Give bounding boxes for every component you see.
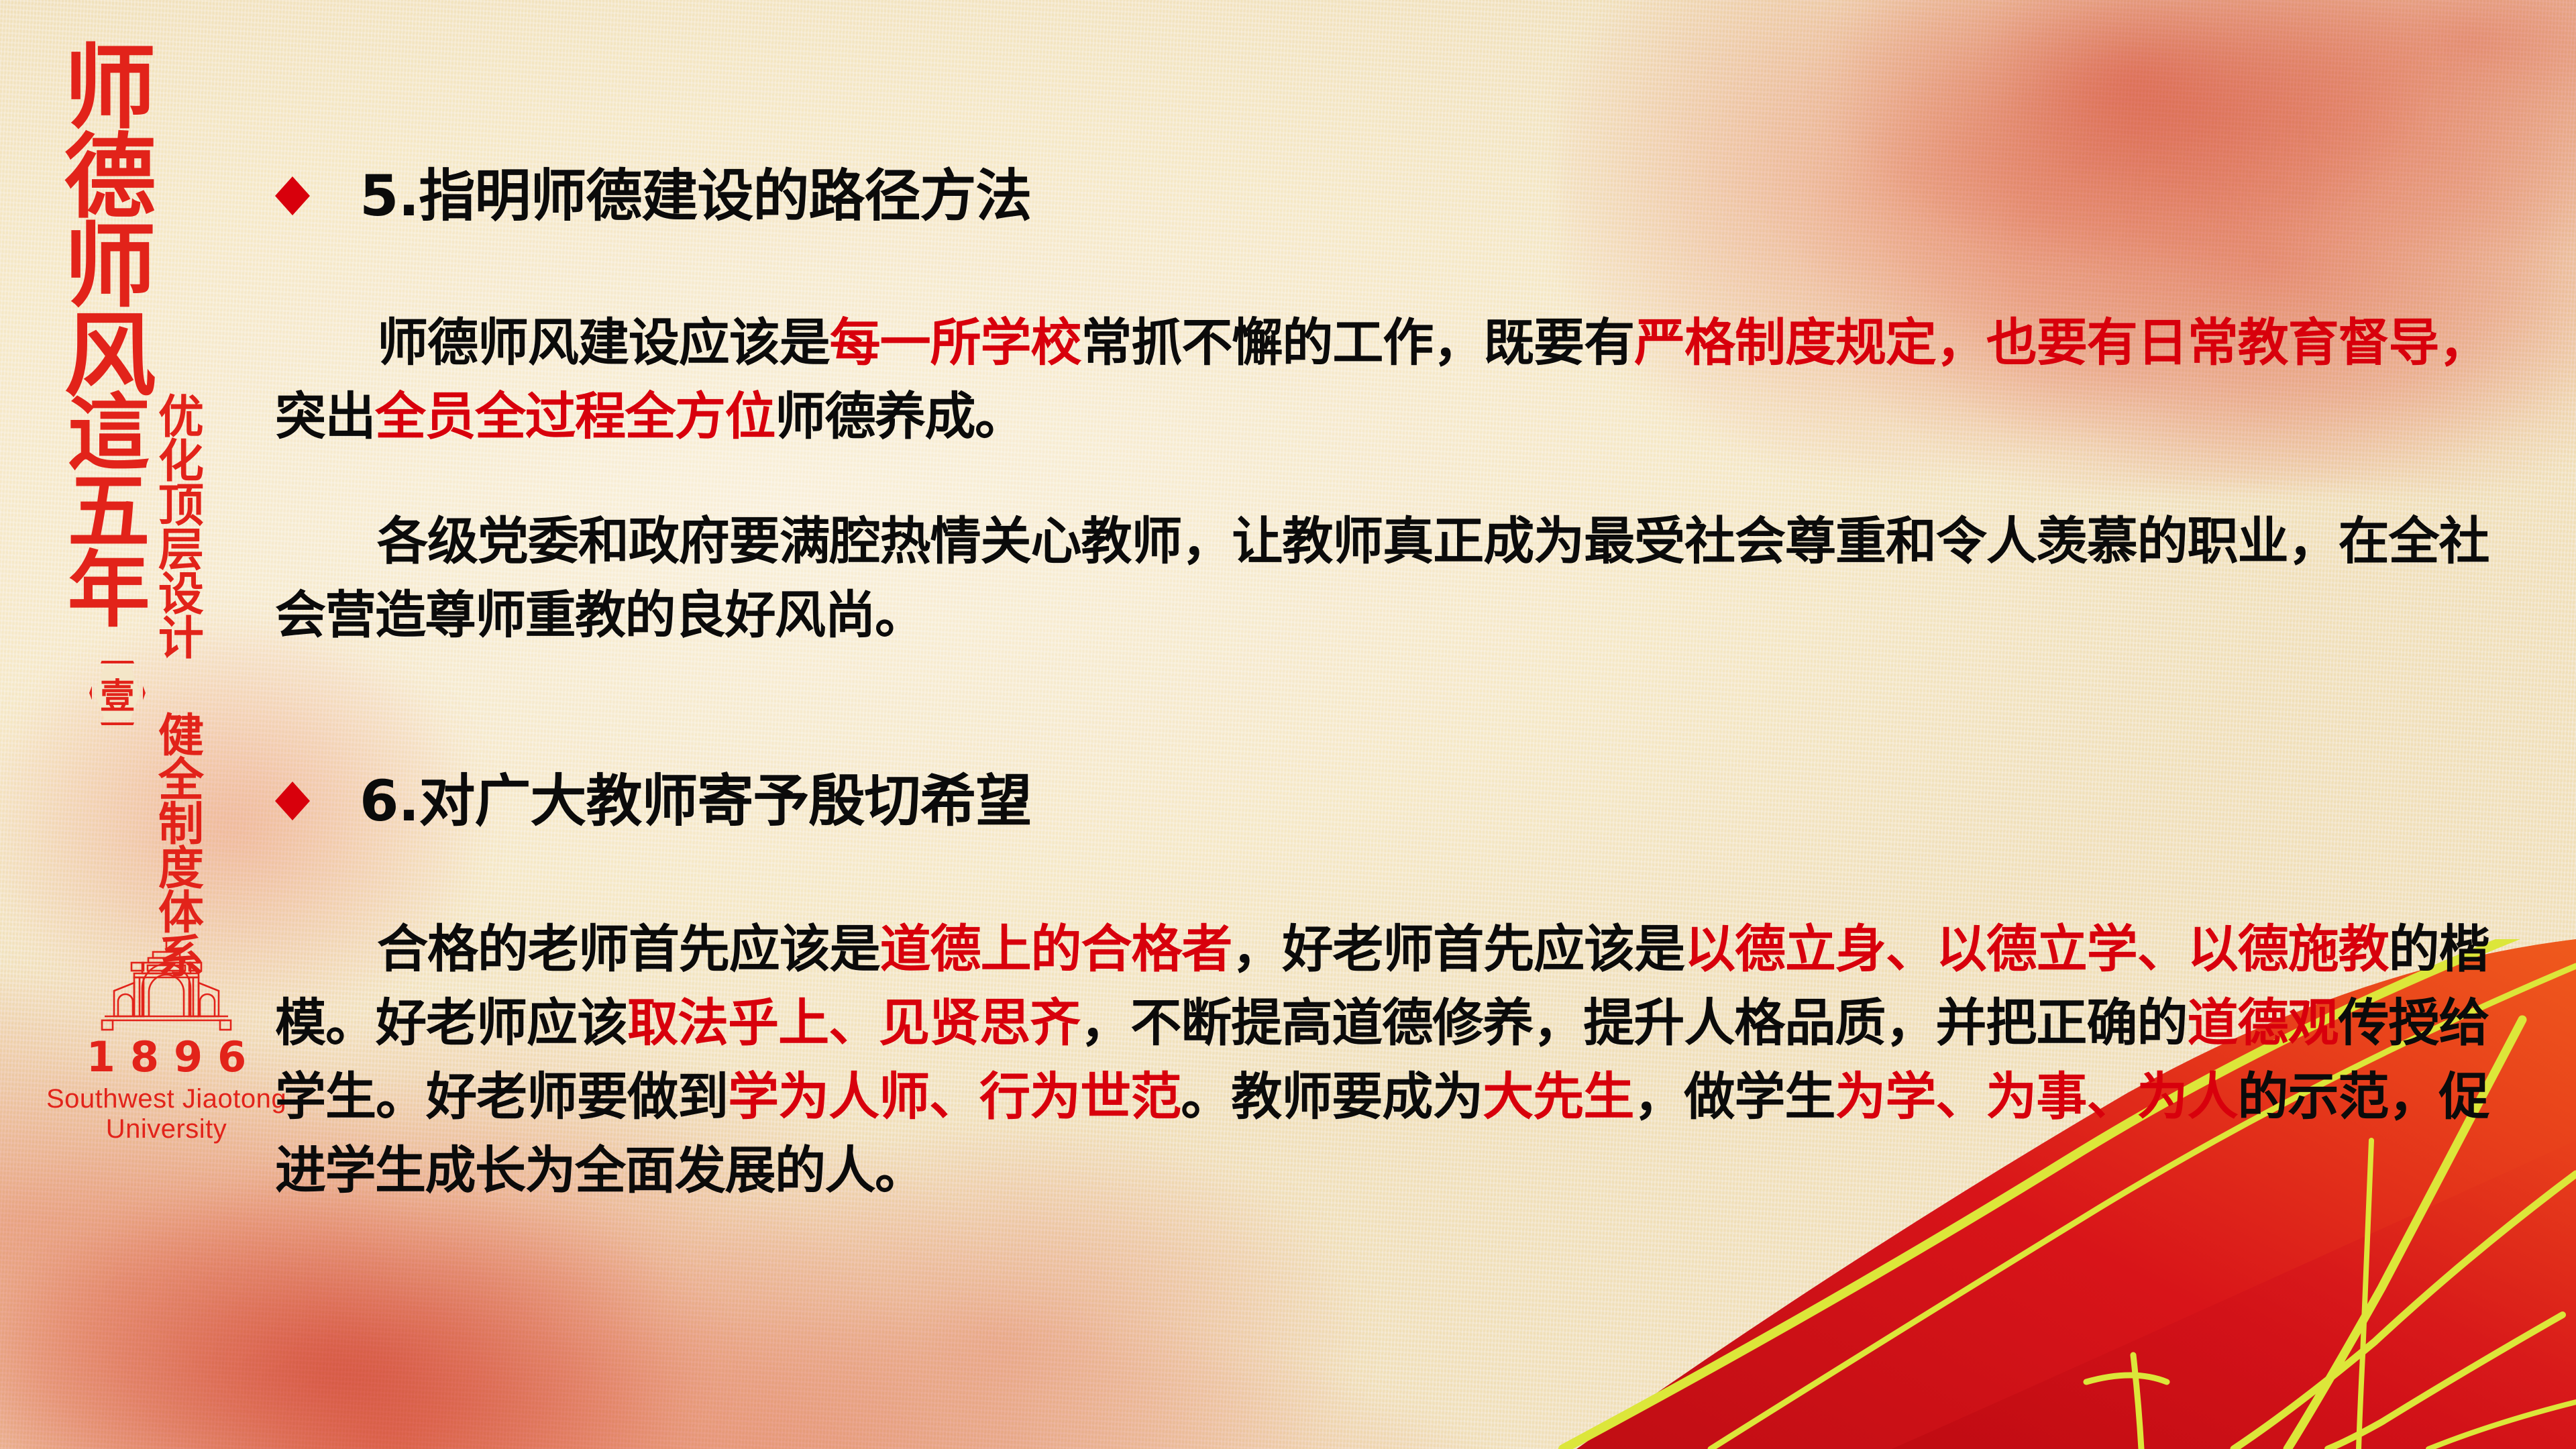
text-run: ，不断提高道德修养，提升人格品质，并把正确的: [1080, 993, 2187, 1053]
section-heading-5-text: 5.指明师德建设的路径方法: [360, 168, 1031, 224]
paragraph-6-1: 合格的老师首先应该是道德上的合格者，好老师首先应该是以德立身、以德立学、以德施教…: [275, 912, 2489, 1207]
spacer: [275, 703, 2489, 773]
university-logo: 1896 Southwest Jiaotong University: [25, 936, 307, 1144]
highlight-run: 严格制度规定，也要有日常教育督导，: [1634, 313, 2489, 372]
vertical-subtitle-1: 优化顶层设计: [153, 392, 199, 658]
highlight-run: 道德上的合格者: [880, 919, 1232, 979]
diamond-bullet-icon: [275, 176, 310, 215]
text-run: 合格的老师首先应该是: [377, 919, 880, 979]
slide-content: 5.指明师德建设的路径方法 师德师风建设应该是每一所学校常抓不懈的工作，既要有严…: [275, 168, 2489, 1258]
vertical-title-main: 师德师风: [59, 39, 144, 396]
text-run: ，好老师首先应该是: [1232, 919, 1684, 979]
highlight-run: 学为人师、行为世范: [728, 1067, 1181, 1126]
highlight-run: 道德观: [2187, 993, 2338, 1053]
hex-badge: 壹: [89, 661, 146, 725]
highlight-run: 大先生: [1483, 1067, 1633, 1126]
paragraph-5-1: 师德师风建设应该是每一所学校常抓不懈的工作，既要有严格制度规定，也要有日常教育督…: [275, 306, 2489, 453]
highlight-run: 为学、为事、为人: [1835, 1067, 2237, 1126]
diamond-bullet-icon: [275, 782, 310, 820]
presentation-slide: 师德师风 這五年 壹 优化顶层设计 健全制度体系: [0, 0, 2576, 1449]
university-gate-icon: [72, 936, 260, 1036]
text-run: 。教师要成为: [1181, 1067, 1483, 1126]
logo-university-name: Southwest Jiaotong University: [25, 1084, 307, 1144]
logo-founding-year: 1896: [25, 1032, 307, 1081]
text-run: 各级党委和政府要满腔热情关心教师，让教师真正成为最受社会尊重和令人羡慕的职业，在…: [275, 511, 2489, 645]
hex-badge-label: 壹: [89, 661, 146, 725]
vertical-title-secondary: 這五年: [62, 389, 141, 625]
text-run: 突出: [275, 386, 375, 446]
highlight-run: 全员全过程全方位: [375, 386, 775, 446]
slide-side-title-rail: 师德师风 這五年 壹 优化顶层设计 健全制度体系: [0, 0, 322, 1449]
text-run: 师德养成。: [775, 386, 1025, 446]
section-heading-6: 6.对广大教师寄予殷切希望: [275, 773, 2489, 829]
text-run: 常抓不懈的工作，既要有: [1081, 313, 1635, 372]
text-run: ，做学生: [1633, 1067, 1835, 1126]
section-heading-6-text: 6.对广大教师寄予殷切希望: [360, 773, 1031, 829]
section-heading-5: 5.指明师德建设的路径方法: [275, 168, 2489, 224]
highlight-run: 以德立身、以德立学、以德施教: [1684, 919, 2389, 979]
highlight-run: 取法乎上、见贤思齐: [627, 993, 1080, 1053]
spacer: [275, 829, 2489, 861]
text-run: 师德师风建设应该是: [377, 313, 830, 372]
highlight-run: 每一所学校: [830, 313, 1081, 372]
paragraph-5-2: 各级党委和政府要满腔热情关心教师，让教师真正成为最受社会尊重和令人羡慕的职业，在…: [275, 504, 2489, 652]
